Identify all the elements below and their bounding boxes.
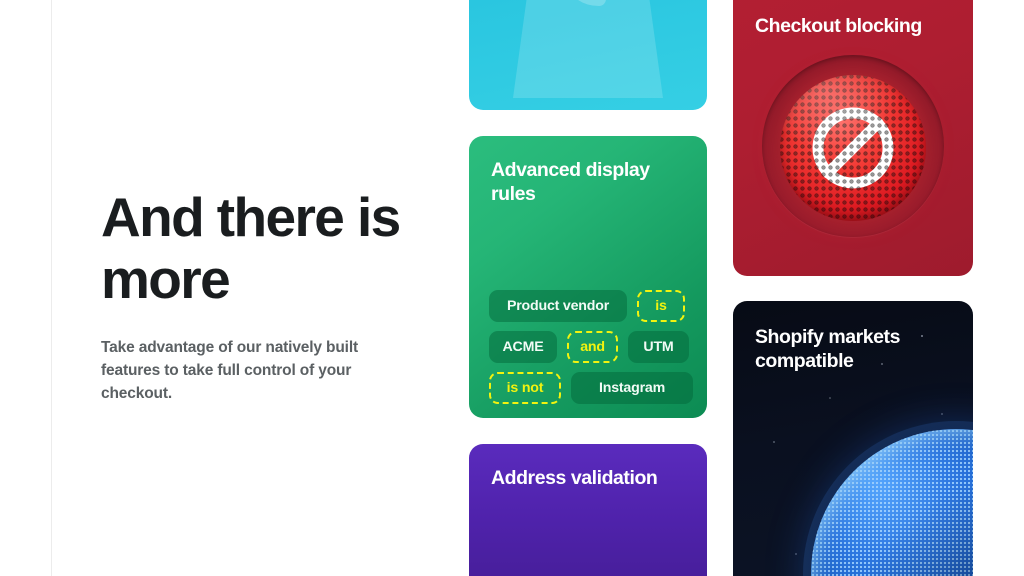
card-shopify-markets-compatible[interactable]: Shopify markets compatible <box>733 301 973 576</box>
card-title: Address validation <box>491 466 687 490</box>
chip-operator-is-not[interactable]: is not <box>489 372 561 404</box>
card-checkout-blocking[interactable]: Checkout blocking <box>733 0 973 276</box>
card-address-validation[interactable]: Address validation <box>469 444 707 576</box>
card-shopify-bag[interactable] <box>469 0 707 110</box>
feature-section: And there is more Take advantage of our … <box>0 0 1024 576</box>
chip-instagram[interactable]: Instagram <box>571 372 693 404</box>
prohibition-light-icon <box>762 55 944 237</box>
chip-utm[interactable]: UTM <box>628 331 689 363</box>
light-lens <box>780 75 926 221</box>
chip-product-vendor[interactable]: Product vendor <box>489 290 627 322</box>
display-rule-chips: Product vendor is ACME and UTM is not In… <box>489 290 693 404</box>
card-advanced-display-rules[interactable]: Advanced display rules Product vendor is… <box>469 136 707 418</box>
chip-acme[interactable]: ACME <box>489 331 557 363</box>
card-title: Shopify markets compatible <box>755 325 945 373</box>
chip-operator-is[interactable]: is <box>637 290 685 322</box>
card-title: Advanced display rules <box>491 158 675 206</box>
section-description: Take advantage of our natively built fea… <box>101 336 373 405</box>
globe-icon <box>811 429 973 576</box>
page-title: And there is more <box>101 186 401 310</box>
shopify-bag-icon <box>495 0 681 106</box>
section-divider <box>51 0 52 576</box>
chip-operator-and[interactable]: and <box>567 331 618 363</box>
section-copy: And there is more Take advantage of our … <box>101 186 401 405</box>
card-title: Checkout blocking <box>755 14 953 38</box>
